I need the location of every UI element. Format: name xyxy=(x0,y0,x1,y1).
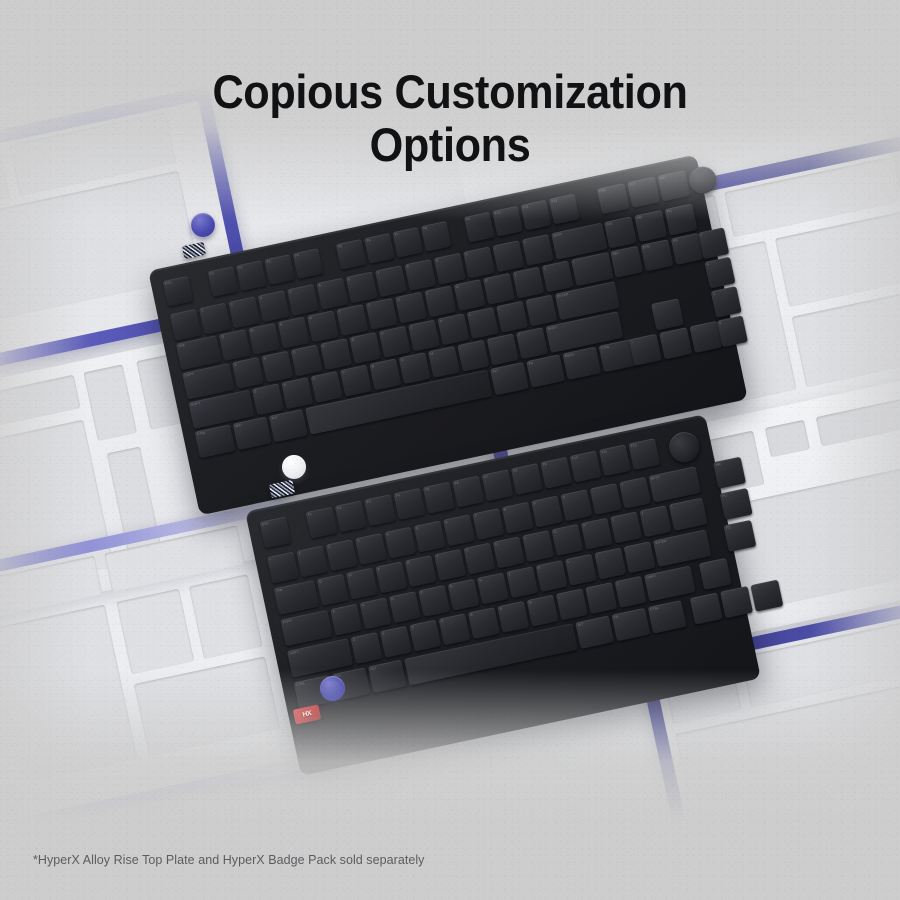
disclaimer-text: *HyperX Alloy Rise Top Plate and HyperX … xyxy=(33,853,424,867)
volume-knob-tkl[interactable] xyxy=(666,429,702,465)
knob-white-mid[interactable] xyxy=(282,455,306,479)
headline-line-2: Options xyxy=(36,119,864,172)
headline-line-1: Copious Customization xyxy=(36,66,864,119)
headline: Copious Customization Options xyxy=(36,66,864,171)
marketing-image: X xyxy=(0,0,900,900)
